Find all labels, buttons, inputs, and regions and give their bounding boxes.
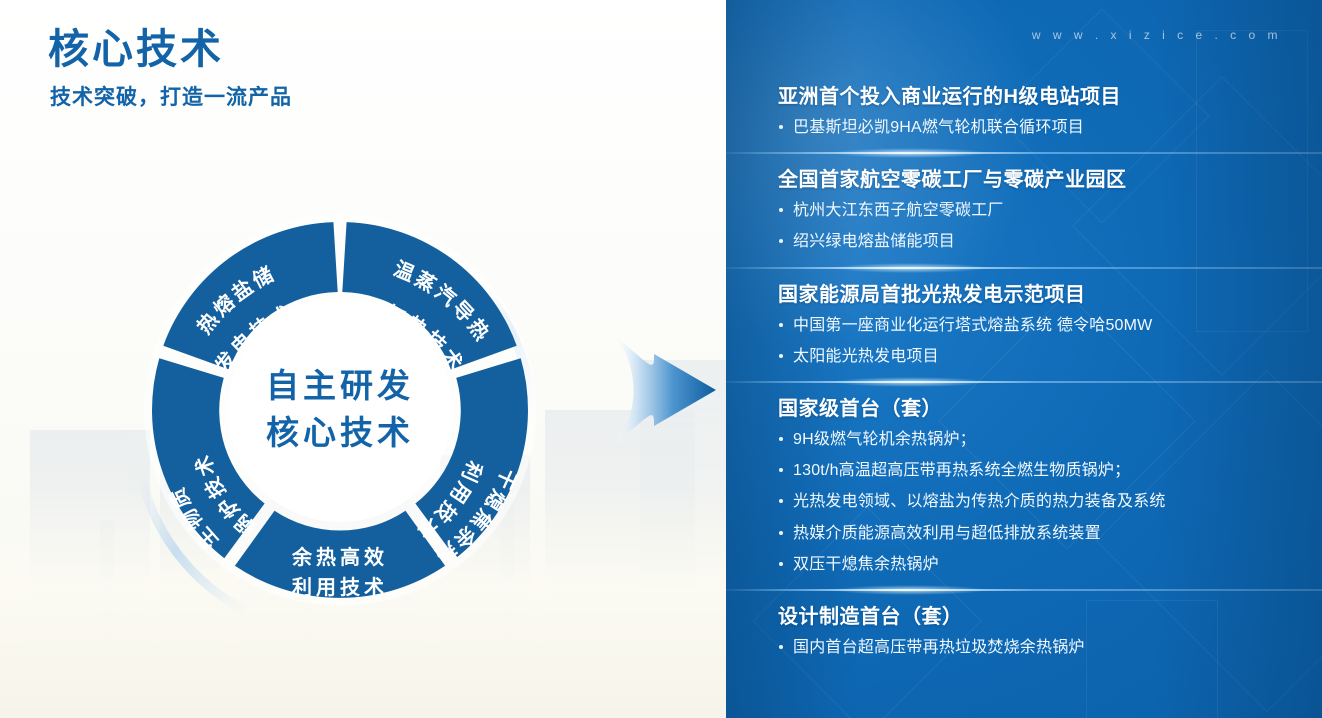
list-item: 太阳能光热发电项目 xyxy=(778,345,1296,368)
list-item: 双压干熄焦余热锅炉 xyxy=(778,553,1296,576)
core-technology-donut: 光热熔盐储热 发电技术 高温蒸汽导热油 加热技术 干熄焦余热 xyxy=(80,170,600,650)
right-arrow-icon xyxy=(612,330,726,450)
list-item: 杭州大江东西子航空零碳工厂 xyxy=(778,199,1296,222)
list-item: 中国第一座商业化运行塔式熔盐系统 德令哈50MW xyxy=(778,314,1296,337)
list-item: 光热发电领域、以熔盐为传热介质的热力装备及系统 xyxy=(778,490,1296,513)
section-divider xyxy=(726,381,1322,383)
title-block: 核心技术 技术突破，打造一流产品 xyxy=(48,24,292,111)
list-item: 130t/h高温超高压带再热系统全燃生物质锅炉； xyxy=(778,459,1296,482)
section-bullets: 9H级燃气轮机余热锅炉； 130t/h高温超高压带再热系统全燃生物质锅炉； 光热… xyxy=(778,428,1296,576)
section-heading: 国家能源局首批光热发电示范项目 xyxy=(778,282,1296,308)
section-asia-h-class: 亚洲首个投入商业运行的H级电站项目 巴基斯坦必凯9HA燃气轮机联合循环项目 xyxy=(726,84,1322,139)
section-heading: 全国首家航空零碳工厂与零碳产业园区 xyxy=(778,167,1296,193)
label-bottom-line1: 余热高效 xyxy=(291,545,388,569)
section-national-first-set: 国家级首台（套） 9H级燃气轮机余热锅炉； 130t/h高温超高压带再热系统全燃… xyxy=(726,396,1322,576)
list-item: 9H级燃气轮机余热锅炉； xyxy=(778,428,1296,451)
section-zero-carbon-factory: 全国首家航空零碳工厂与零碳产业园区 杭州大江东西子航空零碳工厂 绍兴绿电熔盐储能… xyxy=(726,167,1322,253)
section-divider xyxy=(726,267,1322,269)
section-divider xyxy=(726,589,1322,591)
achievement-sections: 亚洲首个投入商业运行的H级电站项目 巴基斯坦必凯9HA燃气轮机联合循环项目 全国… xyxy=(726,84,1322,667)
slide-root: 核心技术 技术突破，打造一流产品 xyxy=(0,0,1322,718)
section-bullets: 杭州大江东西子航空零碳工厂 绍兴绿电熔盐储能项目 xyxy=(778,199,1296,253)
section-heading: 亚洲首个投入商业运行的H级电站项目 xyxy=(778,84,1296,110)
section-bullets: 巴基斯坦必凯9HA燃气轮机联合循环项目 xyxy=(778,116,1296,139)
section-heading: 设计制造首台（套） xyxy=(778,604,1296,630)
right-panel: w w w . x i z i c e . c o m 亚洲首个投入商业运行的H… xyxy=(726,0,1322,718)
list-item: 国内首台超高压带再热垃圾焚烧余热锅炉 xyxy=(778,636,1296,659)
section-design-manufacture-first-set: 设计制造首台（套） 国内首台超高压带再热垃圾焚烧余热锅炉 xyxy=(726,604,1322,659)
section-bullets: 中国第一座商业化运行塔式熔盐系统 德令哈50MW 太阳能光热发电项目 xyxy=(778,314,1296,368)
page-title: 核心技术 xyxy=(48,24,292,75)
label-bottom-line2: 利用技术 xyxy=(292,575,388,599)
list-item: 绍兴绿电熔盐储能项目 xyxy=(778,230,1296,253)
donut-chart-svg: 光热熔盐储热 发电技术 高温蒸汽导热油 加热技术 干熄焦余热 xyxy=(80,170,600,650)
section-divider xyxy=(726,152,1322,154)
list-item: 巴基斯坦必凯9HA燃气轮机联合循环项目 xyxy=(778,116,1296,139)
section-bullets: 国内首台超高压带再热垃圾焚烧余热锅炉 xyxy=(778,636,1296,659)
page-subtitle: 技术突破，打造一流产品 xyxy=(50,81,292,111)
site-watermark: w w w . x i z i c e . c o m xyxy=(1032,28,1282,42)
list-item: 热媒介质能源高效利用与超低排放系统装置 xyxy=(778,522,1296,545)
left-panel: 核心技术 技术突破，打造一流产品 xyxy=(0,0,726,718)
section-csp-demo: 国家能源局首批光热发电示范项目 中国第一座商业化运行塔式熔盐系统 德令哈50MW… xyxy=(726,282,1322,368)
section-heading: 国家级首台（套） xyxy=(778,396,1296,422)
